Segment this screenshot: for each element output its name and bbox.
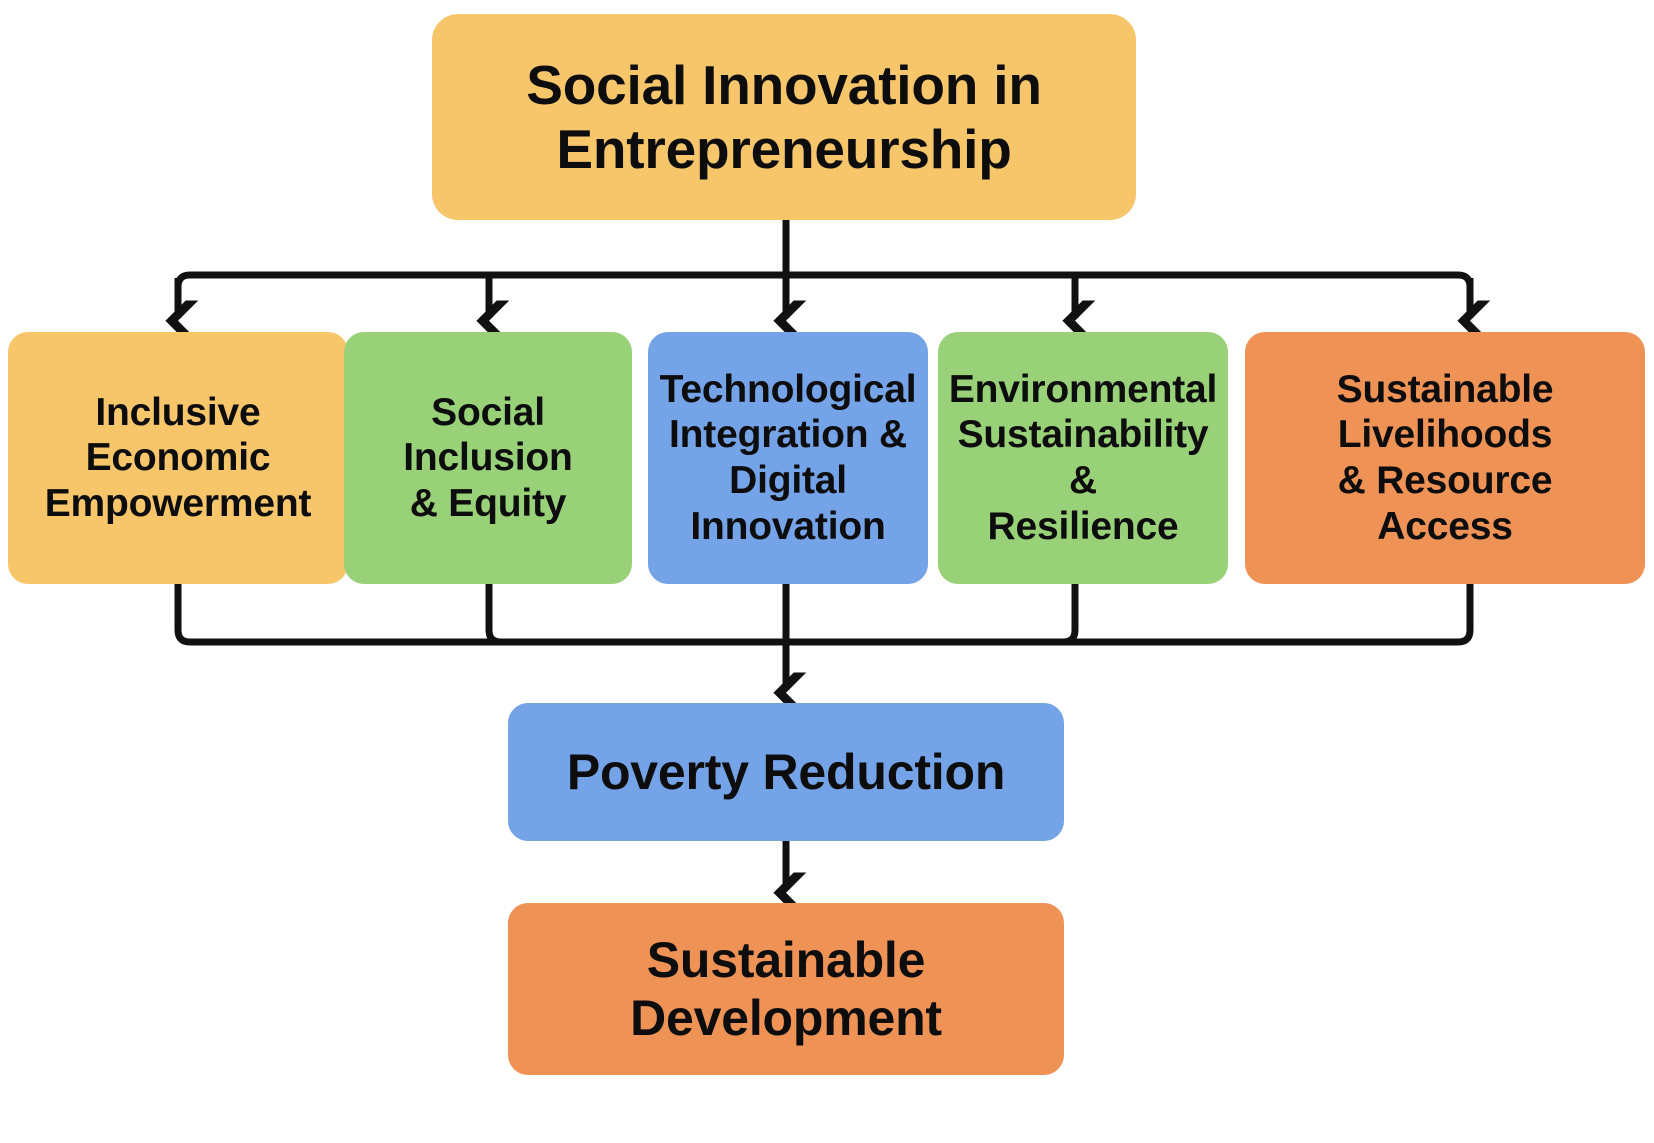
- node-environmental-sustainability-resilience[interactable]: Environmental Sustainability & Resilienc…: [938, 332, 1228, 584]
- node-sustainable-livelihoods-resource-access[interactable]: Sustainable Livelihoods & Resource Acces…: [1245, 332, 1645, 584]
- flowchart-canvas: Social Innovation in Entrepreneurship In…: [0, 0, 1654, 1143]
- node-social-inclusion-equity[interactable]: Social Inclusion & Equity: [344, 332, 632, 584]
- node-inclusive-economic-empowerment[interactable]: Inclusive Economic Empowerment: [8, 332, 348, 584]
- node-sustainable-development[interactable]: Sustainable Development: [508, 903, 1064, 1075]
- node-social-innovation-in-entrepreneurship[interactable]: Social Innovation in Entrepreneurship: [432, 14, 1136, 220]
- connector-bus-to-pillars: [178, 278, 1470, 318]
- connector-pillars-to-merge: [178, 584, 1470, 642]
- connector-distribution-bus: [178, 275, 1470, 310]
- node-technological-integration-digital-innovation[interactable]: Technological Integration & Digital Inno…: [648, 332, 928, 584]
- node-poverty-reduction[interactable]: Poverty Reduction: [508, 703, 1064, 841]
